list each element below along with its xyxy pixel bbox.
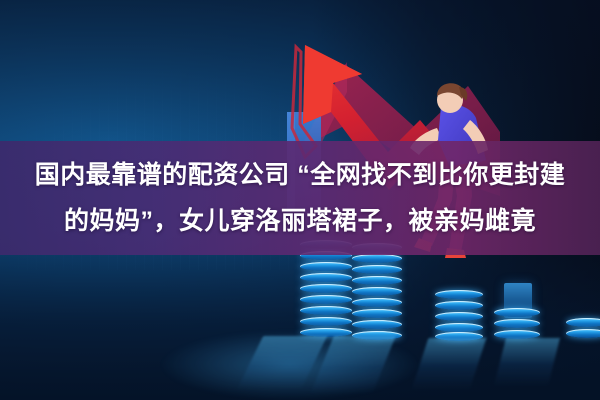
caption-line-1: 国内最靠谱的配资公司 “全网找不到比你更封建: [35, 153, 565, 197]
coin-stack-tall-left: [300, 240, 352, 340]
coin-stack-medium: [435, 290, 483, 342]
floor-glow-pool: [160, 330, 420, 400]
caption-overlay-band: 国内最靠谱的配资公司 “全网找不到比你更封建 的妈妈”，女儿穿洛丽塔裙子，被亲妈…: [0, 141, 600, 255]
caption-line-2: 的妈妈”，女儿穿洛丽塔裙子，被亲妈雌竟: [64, 199, 536, 243]
coin-stack-tall-right: [352, 243, 402, 340]
banner-image: 国内最靠谱的配资公司 “全网找不到比你更封建 的妈妈”，女儿穿洛丽塔裙子，被亲妈…: [0, 0, 600, 400]
coin-stack-edge-right: [566, 318, 600, 342]
coin-stack-short-right: [494, 308, 540, 342]
